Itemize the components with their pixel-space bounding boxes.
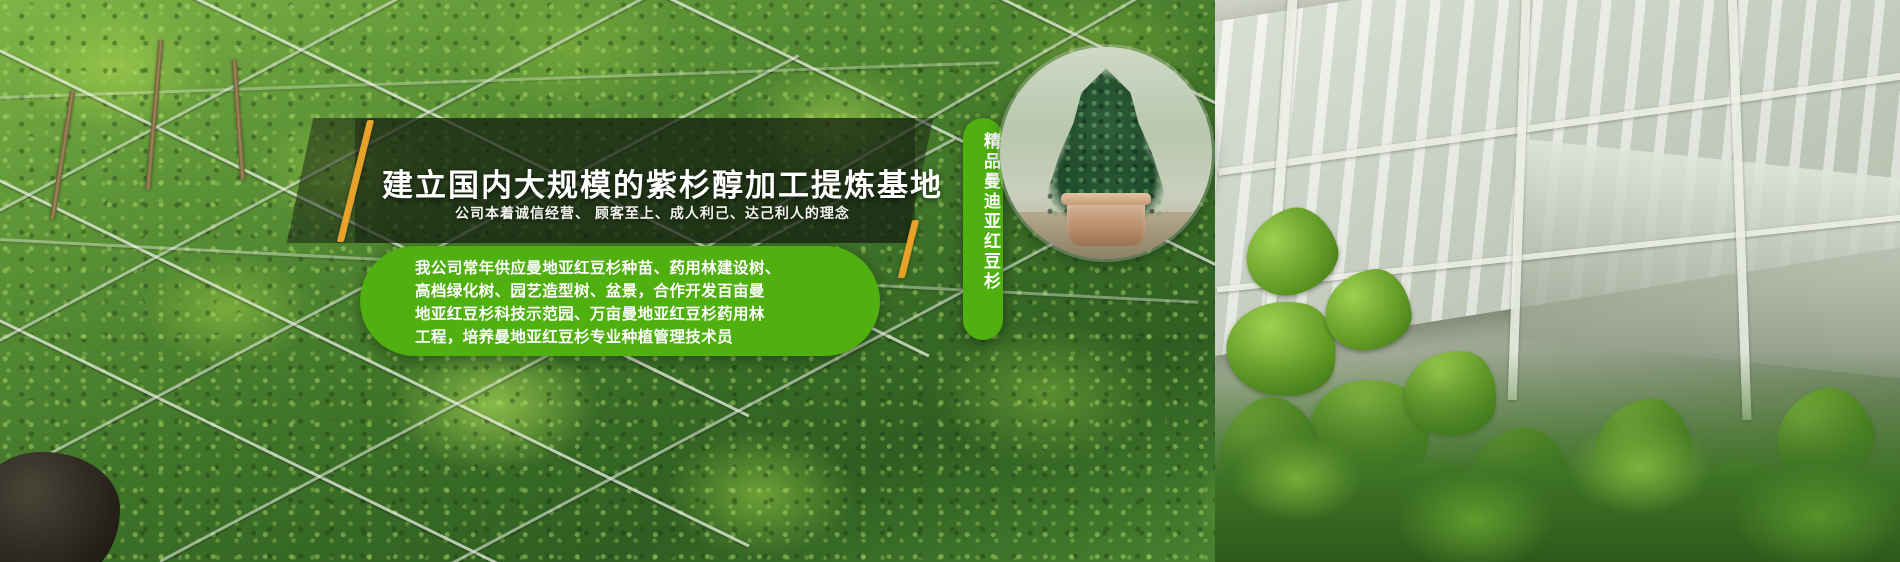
description-line-4: 工程，培养曼地亚红豆杉专业种植管理技术员 xyxy=(415,326,856,349)
greenhouse-photo xyxy=(1215,0,1900,562)
ground-vegetation xyxy=(1215,352,1900,562)
description-text: 我公司常年供应曼地亚红豆杉种苗、药用林建设树、 高档绿化树、园艺造型树、盆景，合… xyxy=(415,257,856,349)
product-photo-circle xyxy=(1000,47,1212,259)
description-line-3: 地亚红豆杉科技示范园、万亩曼地亚红豆杉药用林 xyxy=(415,303,856,326)
description-line-2: 高档绿化树、园艺造型树、盆景，合作开发百亩曼 xyxy=(415,280,856,303)
page-subtitle: 公司本着诚信经营、 顾客至上、成人利己、达己利人的理念 xyxy=(455,203,975,223)
description-line-1: 我公司常年供应曼地亚红豆杉种苗、药用林建设树、 xyxy=(415,257,856,280)
description-panel: 我公司常年供应曼地亚红豆杉种苗、药用林建设树、 高档绿化树、园艺造型树、盆景，合… xyxy=(360,246,880,356)
promo-banner: 建立国内大规模的紫杉醇加工提炼基地 公司本着诚信经营、 顾客至上、成人利己、达己… xyxy=(0,0,1900,562)
product-badge: 精品曼迪亚红豆杉 xyxy=(963,118,1003,340)
product-badge-label: 精品曼迪亚红豆杉 xyxy=(963,132,1003,292)
page-title: 建立国内大规模的紫杉醇加工提炼基地 xyxy=(382,160,942,205)
terracotta-pot xyxy=(1067,200,1145,246)
